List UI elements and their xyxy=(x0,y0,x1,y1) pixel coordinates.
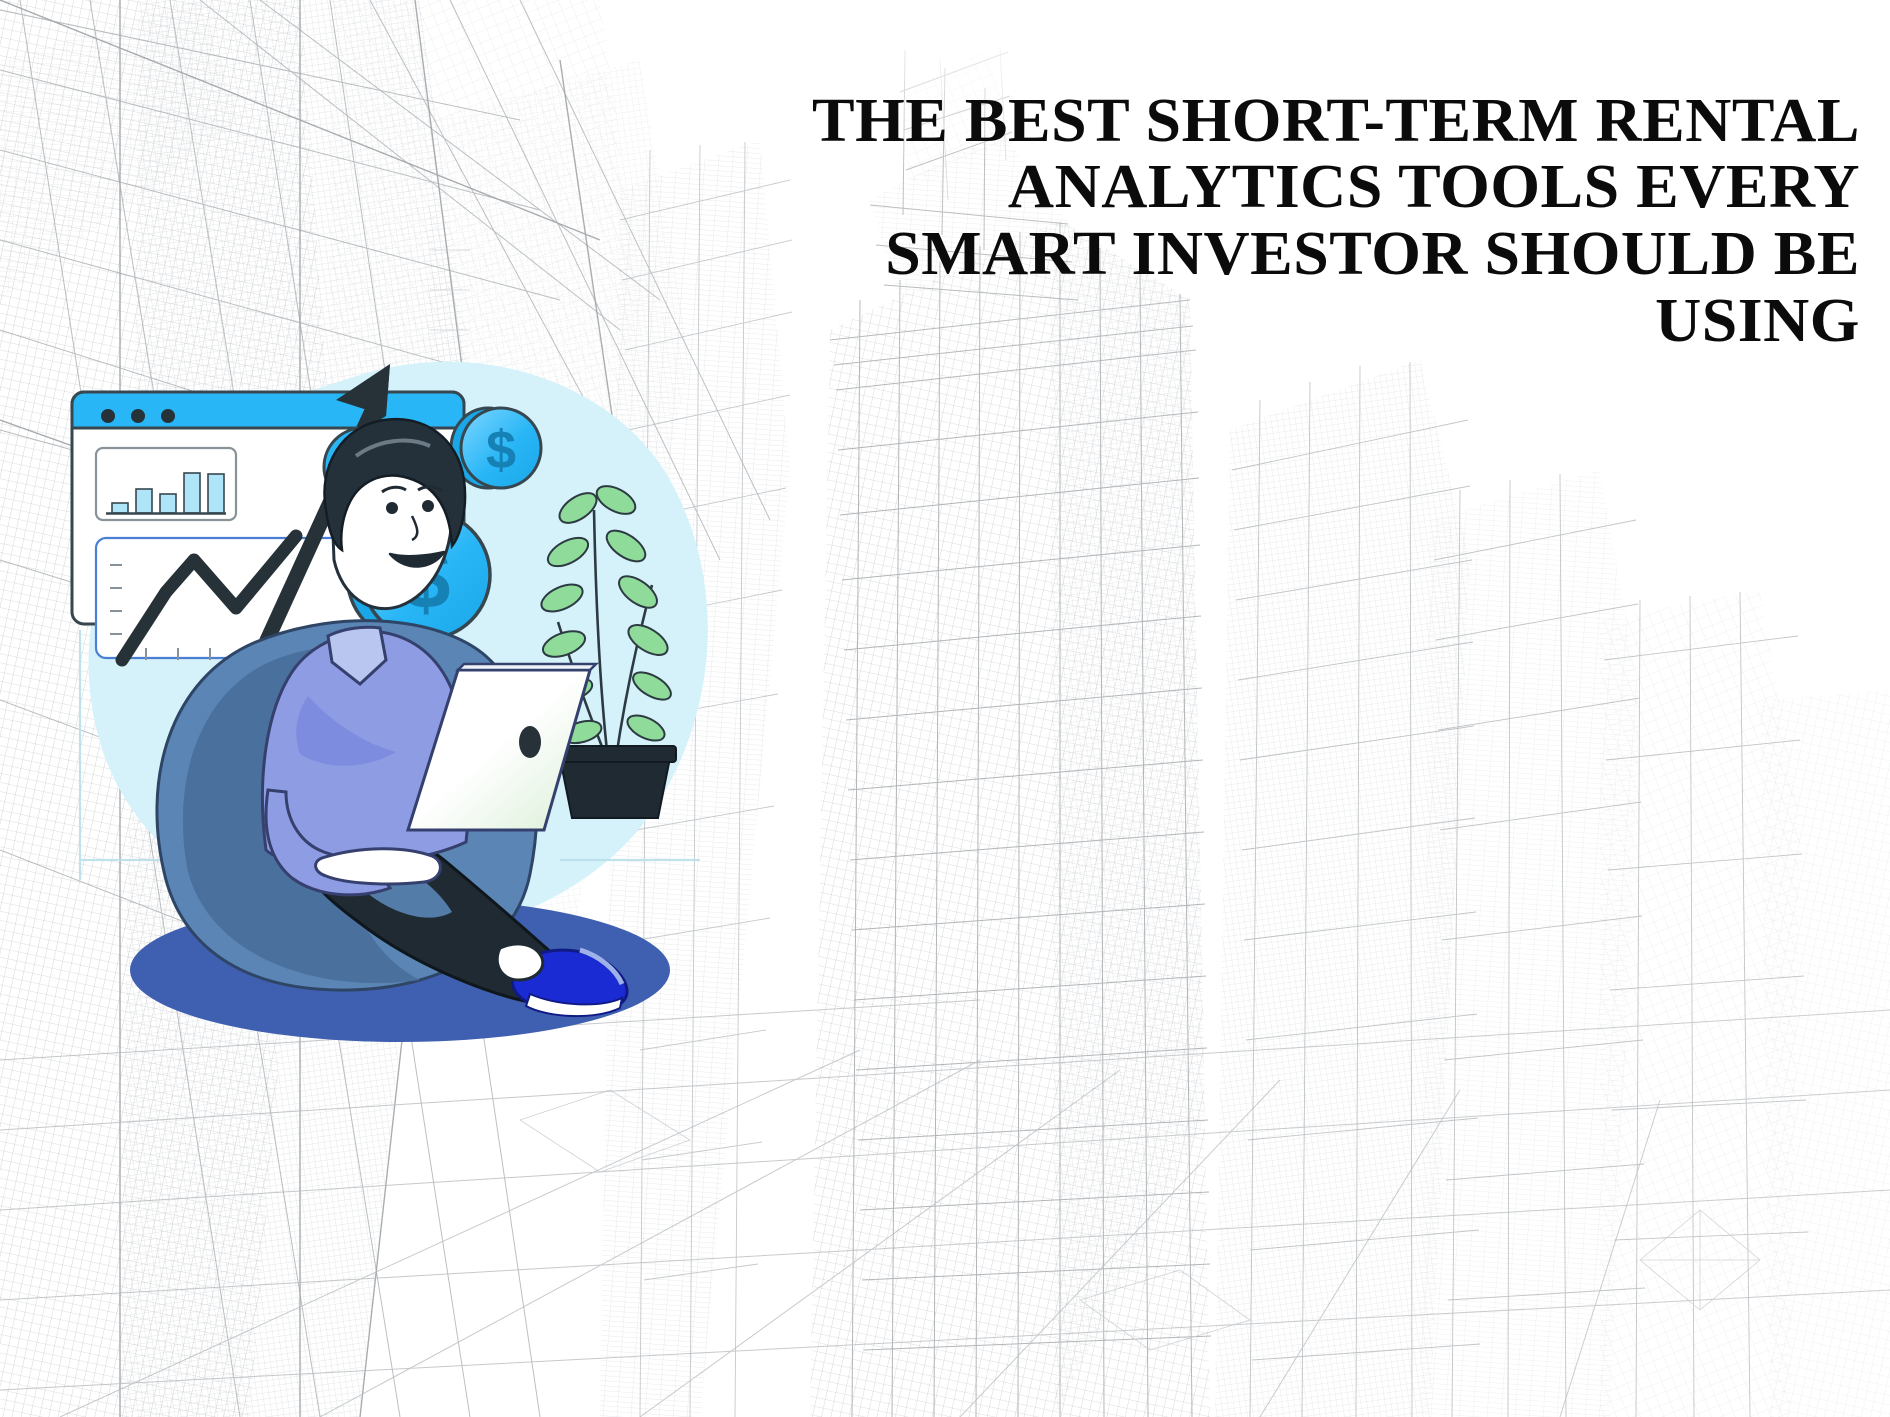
laptop-lid-edge xyxy=(458,664,596,670)
dashboard-bar-chart xyxy=(96,448,236,520)
hero-illustration: $ $ $ xyxy=(60,360,800,1060)
laptop-camera-dot xyxy=(519,726,541,758)
cover-title-block: THE BEST SHORT-TERM RENTAL ANALYTICS TOO… xyxy=(840,46,1860,397)
svg-text:$: $ xyxy=(486,420,516,480)
browser-dot-1[interactable] xyxy=(101,409,115,423)
person-eye-right xyxy=(422,500,434,512)
cover-canvas: THE BEST SHORT-TERM RENTAL ANALYTICS TOO… xyxy=(0,0,1890,1417)
browser-dot-2[interactable] xyxy=(131,409,145,423)
bar-5 xyxy=(208,474,224,513)
plant-pot xyxy=(560,758,670,818)
bar-3 xyxy=(160,494,176,513)
person-hand xyxy=(316,849,441,884)
page-title: THE BEST SHORT-TERM RENTAL ANALYTICS TOO… xyxy=(809,88,1860,356)
bar-1 xyxy=(112,503,128,513)
person-eye-left xyxy=(386,502,398,514)
browser-dot-3[interactable] xyxy=(161,409,175,423)
plant-pot-rim xyxy=(554,746,676,762)
bar-2 xyxy=(136,489,152,513)
illustration-svg: $ $ $ xyxy=(60,360,800,1060)
bar-4 xyxy=(184,473,200,513)
person-sock xyxy=(497,944,543,980)
